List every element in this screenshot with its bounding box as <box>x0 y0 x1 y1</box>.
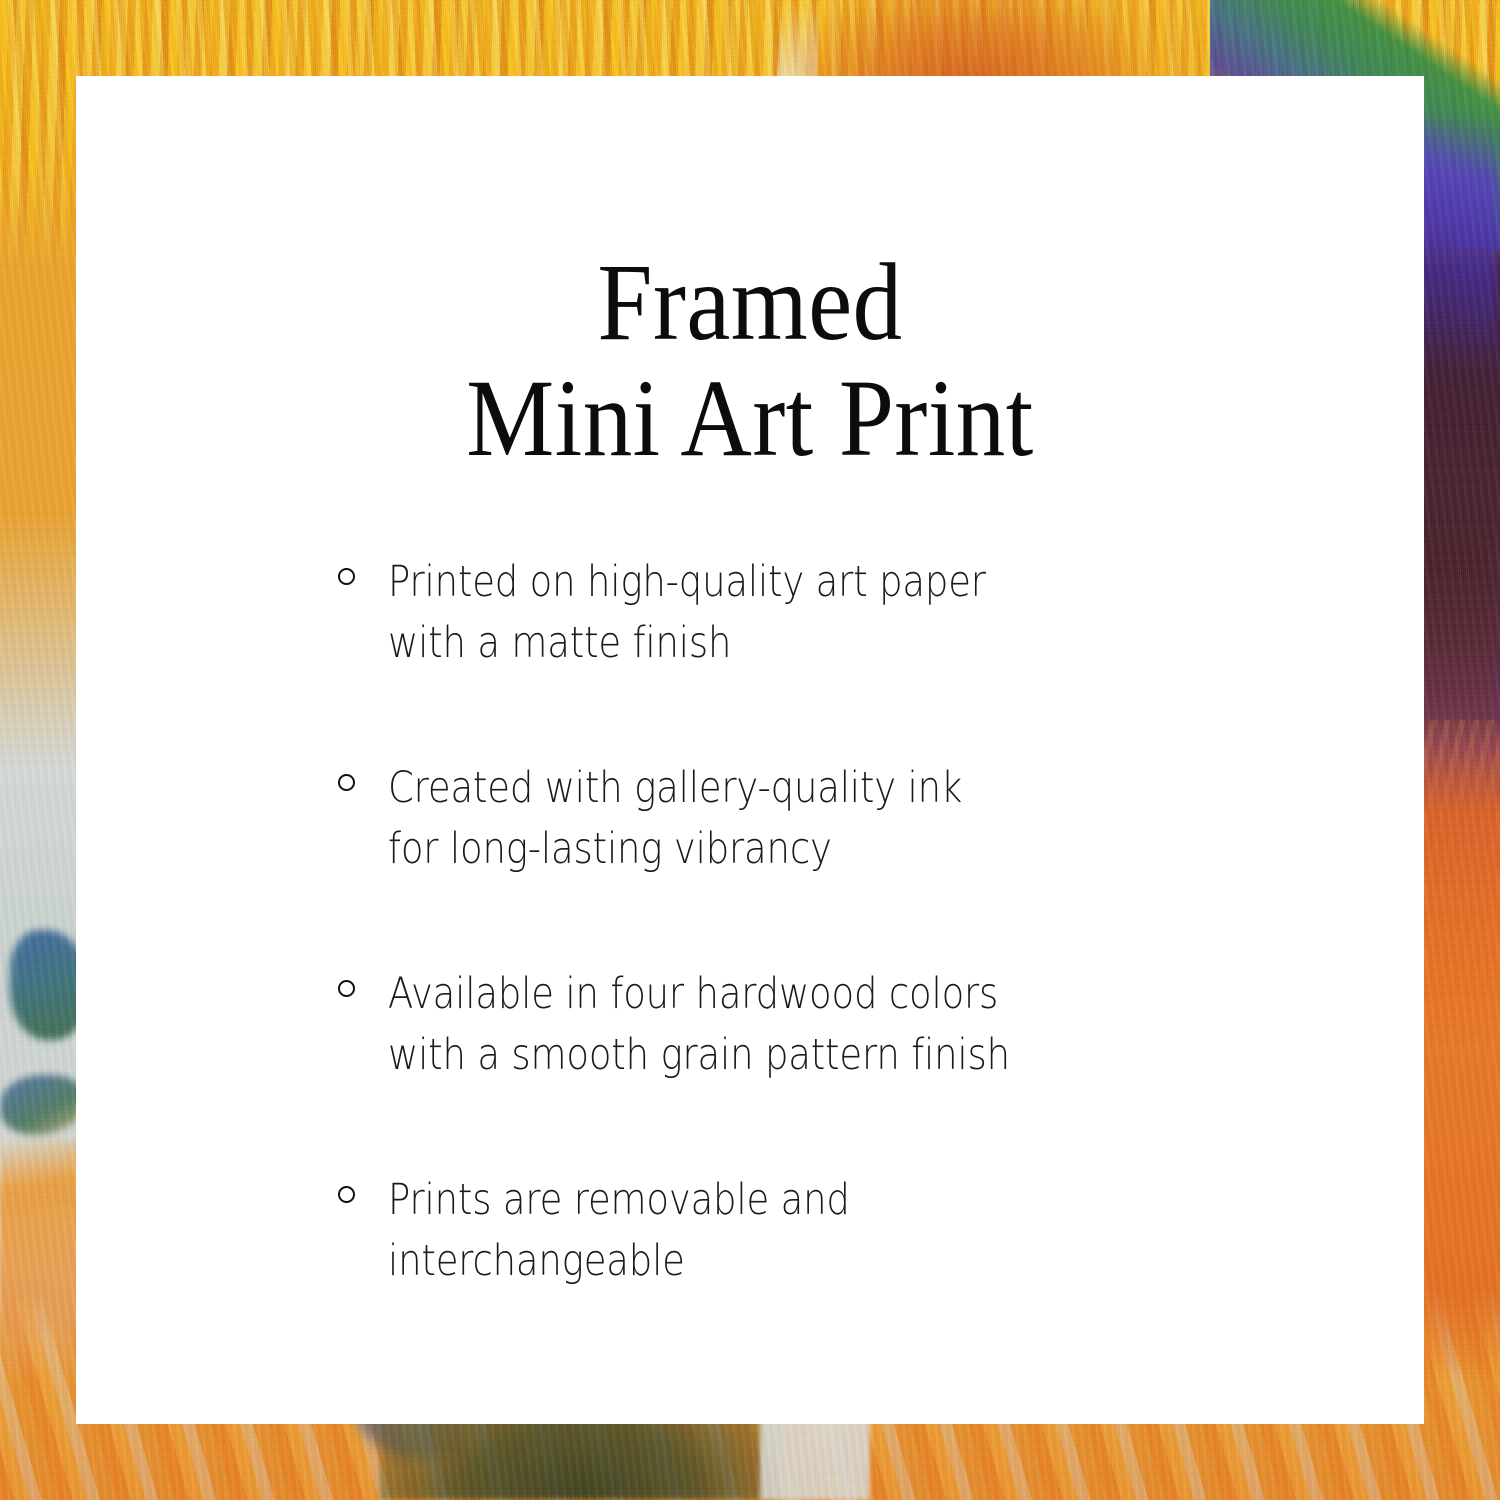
list-item-text: Printed on high-quality art paper with a… <box>388 552 1119 674</box>
feature-list: Printed on high-quality art paper with a… <box>338 552 1238 1292</box>
hollow-circle-icon <box>338 964 388 997</box>
title-line-1: Framed <box>143 244 1356 360</box>
list-item-line-1: Created with gallery-quality ink <box>388 763 962 813</box>
list-item-line-2: with a matte finish <box>388 618 731 668</box>
list-item-text: Available in four hardwood colors with a… <box>388 964 1119 1086</box>
list-item: Available in four hardwood colors with a… <box>338 964 1238 1086</box>
title-line-2: Mini Art Print <box>143 360 1356 476</box>
list-item: Created with gallery-quality ink for lon… <box>338 758 1238 880</box>
list-item-line-1: Available in four hardwood colors <box>388 969 998 1019</box>
product-info-graphic: Framed Mini Art Print Printed on high-qu… <box>0 0 1500 1500</box>
info-card: Framed Mini Art Print Printed on high-qu… <box>76 76 1424 1424</box>
list-item-line-2: with a smooth grain pattern finish <box>388 1030 1010 1080</box>
list-item-text: Created with gallery-quality ink for lon… <box>388 758 1119 880</box>
list-item: Prints are removable and interchangeable <box>338 1170 1238 1292</box>
hollow-circle-icon <box>338 758 388 791</box>
list-item-text: Prints are removable and interchangeable <box>388 1170 1119 1292</box>
list-item-line-1: Printed on high-quality art paper <box>388 557 986 607</box>
list-item-line-1: Prints are removable and <box>388 1175 850 1225</box>
page-title: Framed Mini Art Print <box>76 244 1424 476</box>
list-item-line-2: interchangeable <box>388 1236 685 1286</box>
hollow-circle-icon <box>338 1170 388 1203</box>
hollow-circle-icon <box>338 552 388 585</box>
list-item: Printed on high-quality art paper with a… <box>338 552 1238 674</box>
list-item-line-2: for long-lasting vibrancy <box>388 824 832 874</box>
